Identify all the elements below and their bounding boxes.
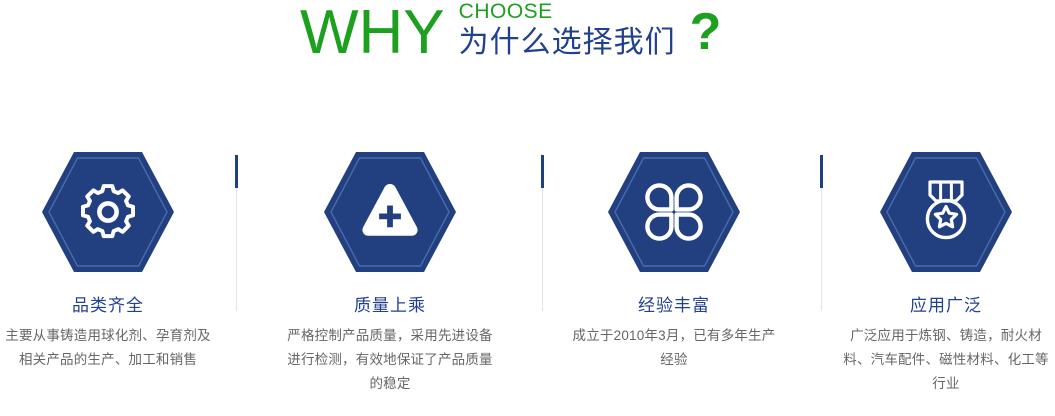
feature-card-title: 品类齐全: [72, 296, 144, 316]
feature-card-title: 质量上乘: [354, 296, 426, 316]
heading-choose: CHOOSE: [459, 0, 676, 24]
gear-icon: [40, 150, 176, 274]
feature-card-list: 品类齐全 主要从事铸造用球化剂、孕育剂及相关产品的生产、加工和销售 质量上乘 严…: [0, 150, 1055, 416]
feature-card[interactable]: 经验丰富 成立于2010年3月，已有多年生产经验: [554, 150, 794, 372]
section-header: WHY CHOOSE 为什么选择我们 ?: [0, 0, 1055, 100]
feature-card-description: 广泛应用于炼钢、铸造，耐火材料、汽车配件、磁性材料、化工等行业: [841, 324, 1051, 396]
hexagon-badge: [40, 150, 176, 274]
feature-card-description: 严格控制产品质量，采用先进设备进行检测，有效地保证了产品质量的稳定: [285, 324, 495, 396]
hexagon-badge: [606, 150, 742, 274]
feature-card[interactable]: 应用广泛 广泛应用于炼钢、铸造，耐火材料、汽车配件、磁性材料、化工等行业: [826, 150, 1055, 396]
heading-why: WHY: [300, 2, 445, 64]
feature-card-description: 主要从事铸造用球化剂、孕育剂及相关产品的生产、加工和销售: [3, 324, 213, 372]
hexagon-badge: [322, 150, 458, 274]
heading-question-mark: ?: [690, 6, 722, 58]
page-root: WHY CHOOSE 为什么选择我们 ?: [0, 0, 1055, 416]
medal-icon: [878, 150, 1014, 274]
hexagon-badge: [878, 150, 1014, 274]
header-title-group: WHY CHOOSE 为什么选择我们 ?: [300, 0, 721, 64]
heading-chinese: 为什么选择我们: [459, 25, 676, 61]
feature-card-title: 经验丰富: [638, 296, 710, 316]
triangle-plus-icon: [322, 150, 458, 274]
feature-card-description: 成立于2010年3月，已有多年生产经验: [569, 324, 779, 372]
heading-subgroup: CHOOSE 为什么选择我们: [459, 0, 676, 61]
feature-card[interactable]: 品类齐全 主要从事铸造用球化剂、孕育剂及相关产品的生产、加工和销售: [0, 150, 228, 372]
clover-icon: [606, 150, 742, 274]
feature-card-title: 应用广泛: [910, 296, 982, 316]
feature-card[interactable]: 质量上乘 严格控制产品质量，采用先进设备进行检测，有效地保证了产品质量的稳定: [270, 150, 510, 396]
